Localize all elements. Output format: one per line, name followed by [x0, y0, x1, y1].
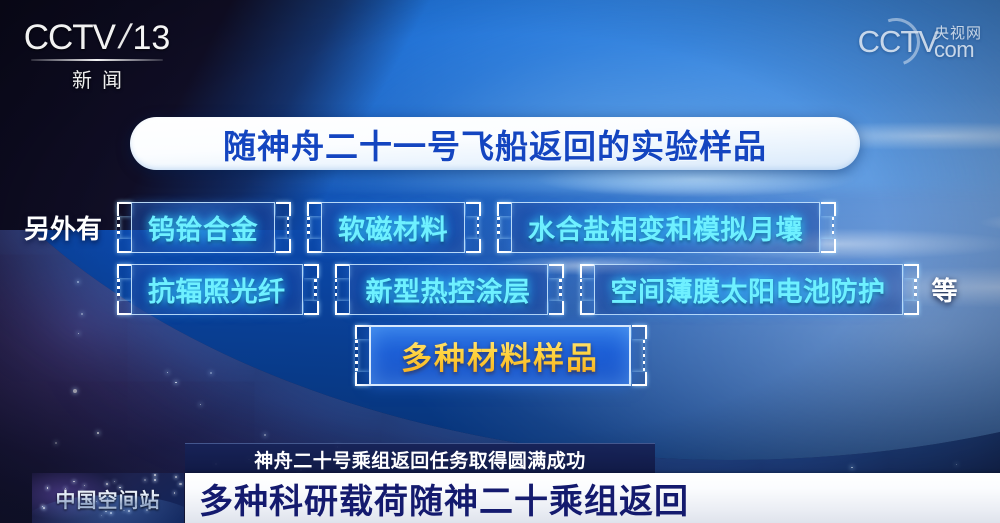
- bracket-left-icon: [335, 264, 348, 315]
- channel-logo: CCTV / 13 新闻: [22, 18, 172, 93]
- tag-box: 抗辐照光纤: [131, 264, 303, 315]
- tag-item: 钨铪合金: [117, 202, 289, 253]
- bracket-right-icon: [304, 264, 317, 315]
- tag-box: 新型热控涂层: [349, 264, 548, 315]
- channel-subtitle: 新闻: [22, 64, 172, 93]
- bracket-right-icon: [466, 202, 479, 253]
- tag-box: 空间薄膜太阳电池防护: [594, 264, 903, 315]
- tag-label: 软磁材料: [338, 208, 448, 247]
- tag-row-1-lead: 另外有: [24, 209, 102, 246]
- bracket-right-icon: [632, 325, 645, 386]
- cctv-com-watermark: CCTV 央视网 com: [858, 26, 982, 61]
- tag-box: 水合盐相变和模拟月壤: [511, 202, 820, 253]
- bracket-left-icon: [580, 264, 593, 315]
- main-title-banner: 随神舟二十一号飞船返回的实验样品: [130, 117, 860, 170]
- watermark-right: 央视网 com: [934, 26, 982, 61]
- channel-name: CCTV: [24, 20, 115, 55]
- bracket-right-icon: [904, 264, 917, 315]
- tag-label: 新型热控涂层: [366, 270, 531, 309]
- lower-third-headline-text: 多种科研载荷随神二十乘组返回: [199, 474, 689, 523]
- tag-label: 空间薄膜太阳电池防护: [611, 270, 886, 309]
- tag-item: 新型热控涂层: [335, 264, 562, 315]
- station-badge: 中国空间站: [32, 473, 184, 523]
- bracket-left-icon: [117, 264, 130, 315]
- tag-box: 钨铪合金: [131, 202, 275, 253]
- bracket-right-icon: [549, 264, 562, 315]
- bracket-left-icon: [117, 202, 130, 253]
- tag-label: 抗辐照光纤: [148, 270, 286, 309]
- tag-box: 软磁材料: [321, 202, 465, 253]
- station-badge-text: 中国空间站: [56, 484, 161, 513]
- tag-row-2: 抗辐照光纤 新型热控涂层 空间薄膜太阳电池防护 等: [0, 258, 1000, 320]
- watermark-com-text: com: [934, 39, 982, 61]
- bracket-right-icon: [276, 202, 289, 253]
- tag-label: 水合盐相变和模拟月壤: [528, 208, 803, 247]
- bracket-left-icon: [355, 325, 368, 386]
- bracket-left-icon: [307, 202, 320, 253]
- broadcast-frame: CCTV / 13 新闻 CCTV 央视网 com 随神舟二十一号飞船返回的实验…: [0, 0, 1000, 523]
- tag-groups: 另外有 钨铪合金 软磁材料 水合盐相变和模拟月壤: [0, 196, 1000, 386]
- main-title-text: 随神舟二十一号飞船返回的实验样品: [223, 120, 767, 168]
- logo-underline: [31, 59, 163, 61]
- lower-third-headline-bar: 多种科研载荷随神二十乘组返回: [185, 473, 1000, 523]
- tag-item: 抗辐照光纤: [117, 264, 317, 315]
- lower-third-subtitle-text: 神舟二十号乘组返回任务取得圆满成功: [254, 446, 586, 473]
- tag-item: 水合盐相变和模拟月壤: [497, 202, 834, 253]
- tag-row-2-trail: 等: [932, 271, 958, 308]
- tag-item: 空间薄膜太阳电池防护: [580, 264, 917, 315]
- tag-item: 软磁材料: [307, 202, 479, 253]
- channel-number: 13: [132, 21, 170, 55]
- tag-row-highlight: 多种材料样品: [0, 324, 1000, 386]
- lower-third-subtitle-bar: 神舟二十号乘组返回任务取得圆满成功: [185, 443, 655, 474]
- bracket-right-icon: [821, 202, 834, 253]
- highlight-tag-label: 多种材料样品: [401, 333, 599, 378]
- highlight-tag-item: 多种材料样品: [355, 325, 645, 386]
- channel-logo-row: CCTV / 13: [22, 18, 172, 57]
- highlight-tag-box: 多种材料样品: [369, 325, 631, 386]
- tag-label: 钨铪合金: [148, 208, 258, 247]
- bracket-left-icon: [497, 202, 510, 253]
- tag-row-1: 另外有 钨铪合金 软磁材料 水合盐相变和模拟月壤: [0, 196, 1000, 258]
